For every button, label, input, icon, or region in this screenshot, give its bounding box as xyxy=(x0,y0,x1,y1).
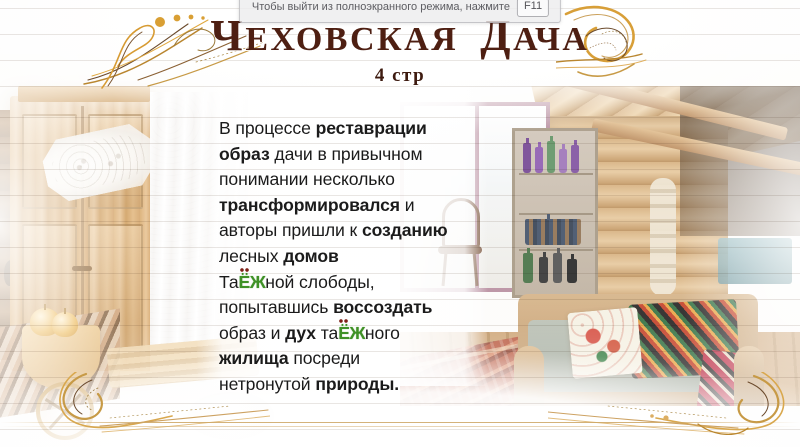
far-table xyxy=(718,238,792,284)
wooden-sofa xyxy=(518,294,758,406)
text-line-5-bold: созданию xyxy=(362,220,448,240)
text-line-3-plain: понимании несколько xyxy=(219,169,395,189)
text-line-2-plain: дачи в привычном xyxy=(270,144,423,164)
chair-leg xyxy=(473,252,479,286)
fullscreen-exit-notification: Чтобы выйти из полноэкранного режима, на… xyxy=(239,0,561,23)
yozh-logo-icon: ЁЖ xyxy=(338,321,365,347)
onion xyxy=(52,312,78,337)
slide-header: ЧЕХОВСКАЯ ДАЧА 4 стр xyxy=(0,14,800,87)
white-plate xyxy=(188,392,274,440)
text-line-6-bold: домов xyxy=(283,246,339,266)
f11-key-badge[interactable]: F11 xyxy=(517,0,549,17)
slide-canvas: ЧЕХОВСКАЯ ДАЧА 4 стр В процессе реставра… xyxy=(0,0,800,447)
text-line-7-pre: Та xyxy=(219,272,239,292)
sofa-armrest xyxy=(734,346,764,406)
yozh-diaeresis-dots xyxy=(240,268,249,272)
text-line-4-plain: и xyxy=(400,195,415,215)
text-line-2-bold: образ xyxy=(219,144,270,164)
text-line-1-bold: реставрации xyxy=(316,118,427,138)
page-subtitle: 4 стр xyxy=(0,65,800,87)
yozh-logo-text: ЁЖ xyxy=(239,272,266,292)
text-line-8-bold: воссоздать xyxy=(333,297,432,317)
title-rest-2: АЧА xyxy=(513,21,589,58)
book-row xyxy=(525,219,581,245)
bottle xyxy=(539,257,548,283)
shelf-board xyxy=(519,213,593,215)
text-line-9-bold: дух xyxy=(285,323,316,343)
text-line-5-plain: авторы пришли к xyxy=(219,220,362,240)
text-line-7-post: ной слободы, xyxy=(265,272,374,292)
fullscreen-message-text: Чтобы выйти из полноэкранного режима, на… xyxy=(252,1,510,13)
text-line-10-plain: посреди xyxy=(289,348,360,368)
text-line-9-post: ного xyxy=(365,323,400,343)
shelf-board xyxy=(519,173,593,175)
bottle xyxy=(567,259,577,283)
bottle xyxy=(523,143,531,173)
text-line-11-plain: нетронутой xyxy=(219,374,315,394)
text-line-6-plain: лесных xyxy=(219,246,283,266)
sofa-armrest xyxy=(514,346,544,406)
bottle xyxy=(571,145,579,173)
bottle xyxy=(559,149,567,173)
text-line-10-bold: жилища xyxy=(219,348,289,368)
bottle xyxy=(535,147,543,173)
bookshelf xyxy=(512,128,598,298)
bottle xyxy=(553,253,562,283)
yozh-diaeresis-dots xyxy=(339,319,348,323)
bottle xyxy=(523,253,533,283)
garlic-braid xyxy=(650,178,676,296)
bottle xyxy=(547,141,555,173)
text-line-9-plain: образ и xyxy=(219,323,285,343)
article-body-text: В процессе реставрации образ дачи в прив… xyxy=(219,116,467,398)
floral-cushion xyxy=(567,307,642,379)
title-rest-1: ЕХОВСКАЯ xyxy=(245,21,458,58)
wagon-wheel xyxy=(36,382,94,440)
yozh-logo-icon: ЁЖ xyxy=(239,270,266,296)
yozh-logo-text: ЁЖ xyxy=(338,323,365,343)
text-line-8-plain: попытавшись xyxy=(219,297,333,317)
text-line-9-pre2: та xyxy=(316,323,338,343)
text-line-4-bold: трансформировался xyxy=(219,195,400,215)
text-line-11-bold: природы. xyxy=(315,374,399,394)
text-line-1-plain: В процессе xyxy=(219,118,316,138)
wardrobe-handle xyxy=(72,266,92,271)
